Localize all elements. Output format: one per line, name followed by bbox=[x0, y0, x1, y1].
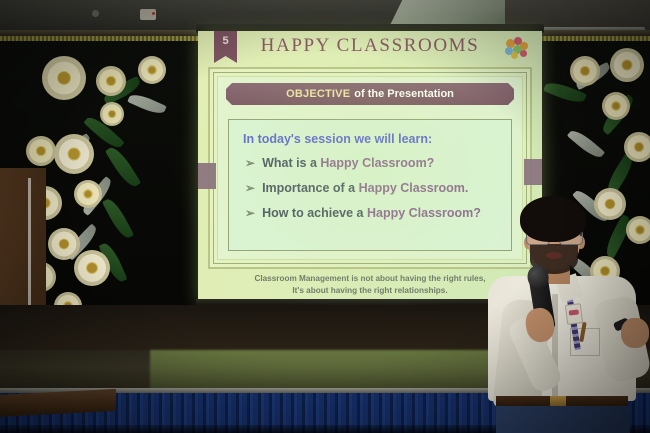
list-item: ➢ How to achieve a Happy Classroom? bbox=[245, 206, 499, 220]
slide-side-tab-right bbox=[524, 159, 542, 185]
arrow-bullet-icon: ➢ bbox=[245, 156, 255, 170]
bullet-text-emphasis: Happy Classroom. bbox=[359, 181, 469, 195]
ceiling-sensor bbox=[140, 9, 156, 20]
bullet-text-plain: What is a bbox=[262, 156, 320, 170]
bullet-text-plain: Importance of a bbox=[262, 181, 359, 195]
objective-emphasis: OBJECTIVE bbox=[286, 88, 350, 100]
trousers bbox=[496, 406, 630, 433]
slide-side-tab-left bbox=[198, 163, 216, 189]
bullet-text-emphasis: Happy Classroom? bbox=[367, 206, 481, 220]
arrow-bullet-icon: ➢ bbox=[245, 206, 255, 220]
objective-rest: of the Presentation bbox=[354, 88, 454, 100]
ceiling-fixture bbox=[92, 10, 99, 17]
slide-title: HAPPY CLASSROOMS bbox=[198, 35, 542, 57]
speaker-right-hand bbox=[621, 318, 649, 348]
mouth bbox=[546, 252, 562, 259]
list-item: ➢ Importance of a Happy Classroom. bbox=[245, 181, 499, 195]
objective-banner: OBJECTIVE of the Presentation bbox=[226, 83, 514, 105]
flower-cluster-icon bbox=[504, 37, 528, 59]
slide-body: In today's session we will learn: ➢ What… bbox=[228, 119, 512, 251]
presentation-photo-scene: 5 HAPPY CLASSROOMS OBJECTIVE bbox=[0, 0, 650, 433]
list-item: ➢ What is a Happy Classroom? bbox=[245, 156, 499, 170]
slide-lead-line: In today's session we will learn: bbox=[243, 132, 499, 146]
slide-header: 5 HAPPY CLASSROOMS bbox=[198, 31, 542, 63]
bullet-text-plain: How to achieve a bbox=[262, 206, 367, 220]
arrow-bullet-icon: ➢ bbox=[245, 181, 255, 195]
id-badge bbox=[565, 303, 583, 325]
hair bbox=[520, 196, 586, 242]
bullet-text-emphasis: Happy Classroom? bbox=[320, 156, 434, 170]
speaker bbox=[474, 196, 650, 433]
